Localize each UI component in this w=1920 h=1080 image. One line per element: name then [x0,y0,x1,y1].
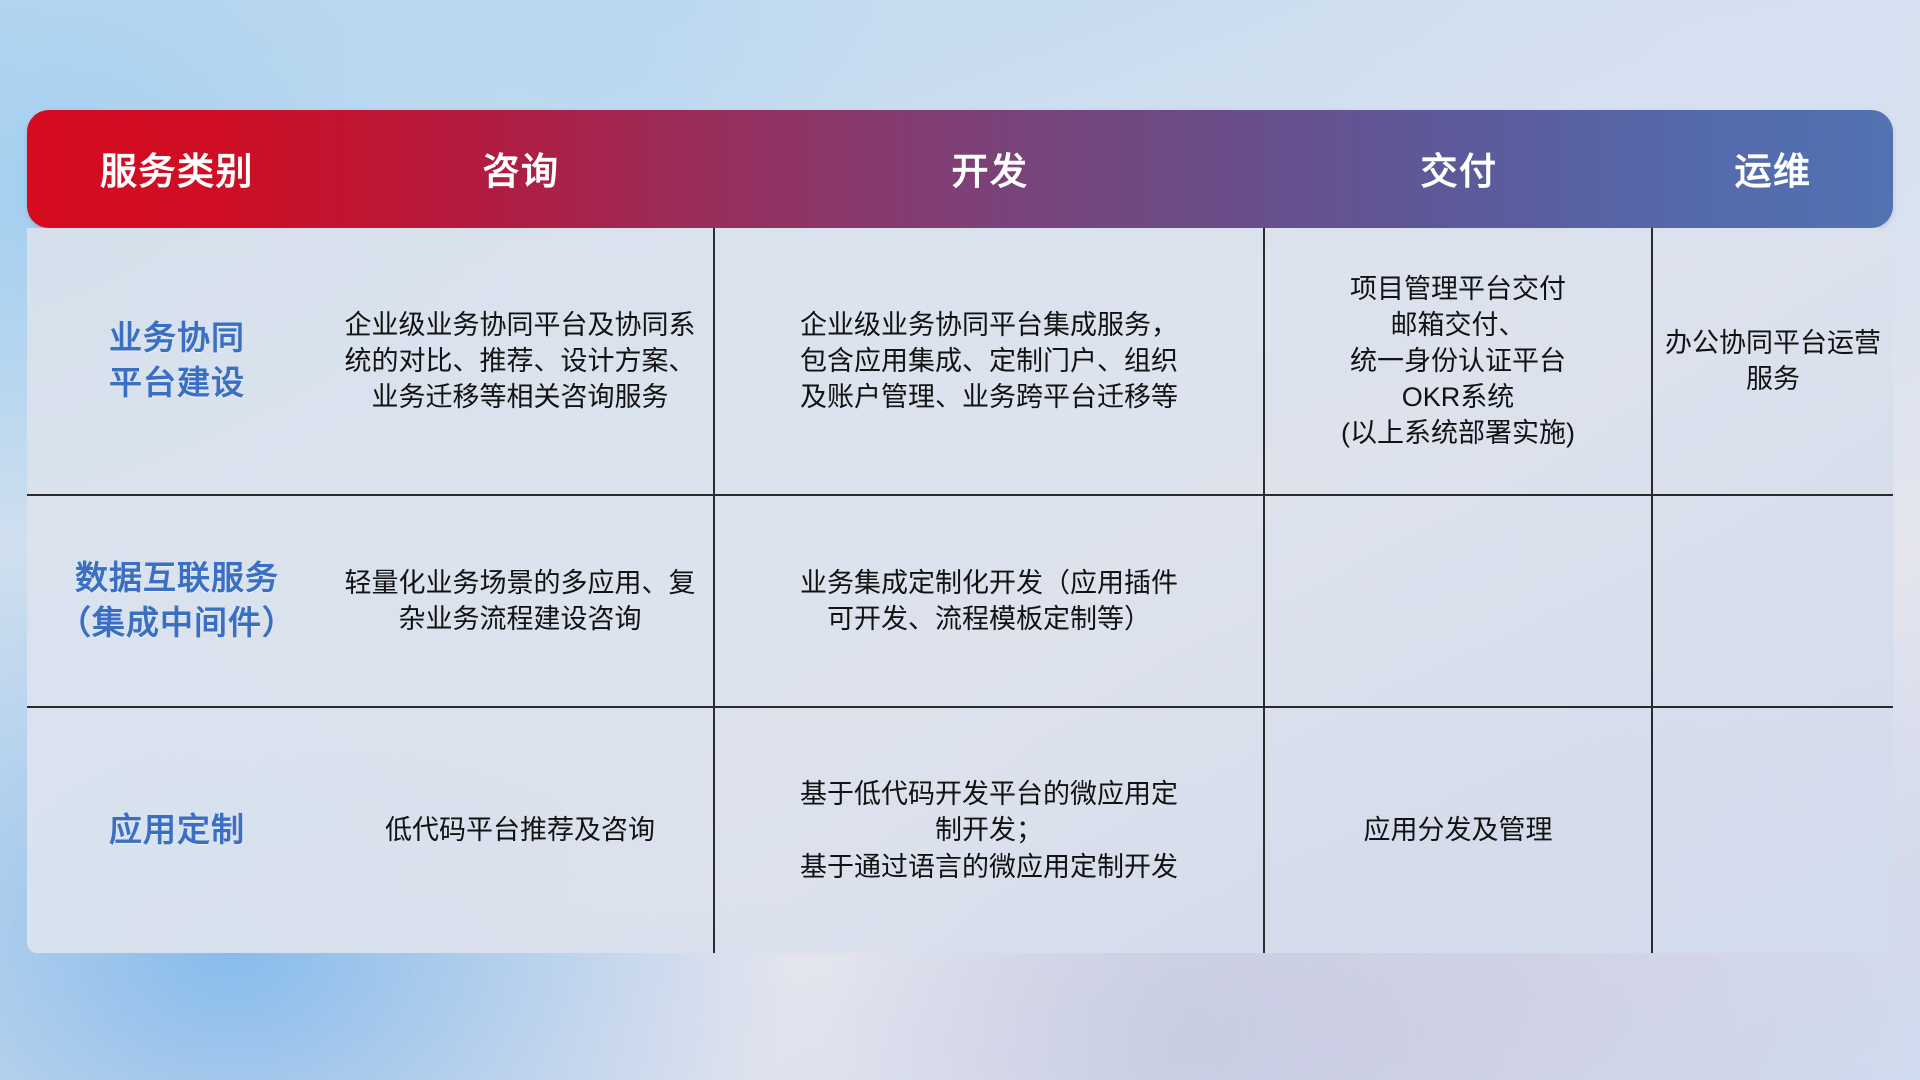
row-category-label: 数据互联服务 （集成中间件） [27,496,327,706]
cell-consulting: 企业级业务协同平台及协同系 统的对比、推荐、设计方案、 业务迁移等相关咨询服务 [327,228,715,494]
row-category-label: 应用定制 [27,708,327,953]
column-header-category: 服务类别 [27,149,327,190]
column-header-delivery: 交付 [1265,149,1653,190]
table-body: 业务协同 平台建设 企业级业务协同平台及协同系 统的对比、推荐、设计方案、 业务… [27,228,1893,953]
cell-delivery: 项目管理平台交付 邮箱交付、 统一身份认证平台 OKR系统 (以上系统部署实施) [1265,228,1653,494]
cell-delivery [1265,496,1653,706]
column-header-operations: 运维 [1653,149,1893,190]
cell-consulting: 低代码平台推荐及咨询 [327,708,715,953]
service-category-table: 服务类别 咨询 开发 交付 运维 业务协同 平台建设 企业级业务协同平台及协同系… [27,110,1893,953]
cell-delivery: 应用分发及管理 [1265,708,1653,953]
cell-operations [1653,496,1893,706]
table-row: 数据互联服务 （集成中间件） 轻量化业务场景的多应用、复 杂业务流程建设咨询 业… [27,496,1893,708]
cell-operations [1653,708,1893,953]
cell-development: 企业级业务协同平台集成服务， 包含应用集成、定制门户、组织 及账户管理、业务跨平… [715,228,1265,494]
table-header-row: 服务类别 咨询 开发 交付 运维 [27,110,1893,228]
cell-development: 业务集成定制化开发（应用插件 可开发、流程模板定制等） [715,496,1265,706]
column-header-consulting: 咨询 [327,149,715,190]
row-category-label: 业务协同 平台建设 [27,228,327,494]
table-row: 业务协同 平台建设 企业级业务协同平台及协同系 统的对比、推荐、设计方案、 业务… [27,228,1893,496]
cell-operations: 办公协同平台运营服务 [1653,228,1893,494]
cell-consulting: 轻量化业务场景的多应用、复 杂业务流程建设咨询 [327,496,715,706]
cell-development: 基于低代码开发平台的微应用定 制开发； 基于通过语言的微应用定制开发 [715,708,1265,953]
column-header-development: 开发 [715,149,1265,190]
table-row: 应用定制 低代码平台推荐及咨询 基于低代码开发平台的微应用定 制开发； 基于通过… [27,708,1893,953]
